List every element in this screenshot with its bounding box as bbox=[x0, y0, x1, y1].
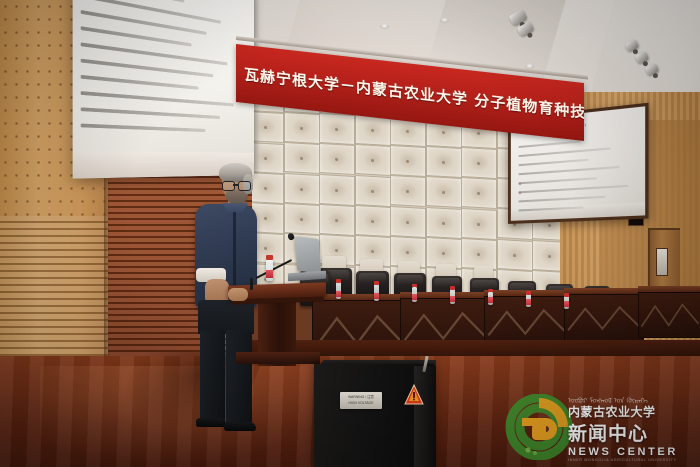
zigzag-decoration-icon bbox=[639, 293, 700, 337]
speaker-hand bbox=[228, 288, 248, 301]
acoustic-pad bbox=[355, 205, 391, 237]
ceiling-downlight bbox=[440, 18, 449, 23]
watermark-university-name: 内蒙古农业大学 bbox=[568, 403, 656, 420]
desk-front-panel bbox=[564, 294, 644, 342]
watermark-news-center-en: NEWS CENTER bbox=[568, 446, 678, 458]
watermark-news-center-cn: 新闻中心 bbox=[568, 419, 648, 446]
slide-text-line bbox=[518, 177, 597, 185]
acoustic-pad bbox=[355, 175, 391, 207]
equipment-case-side bbox=[414, 366, 436, 467]
acoustic-pad bbox=[284, 142, 320, 174]
glasses-icon bbox=[238, 181, 251, 191]
water-bottle bbox=[488, 292, 493, 306]
desk-front-panel bbox=[638, 292, 700, 338]
slide-text-line bbox=[518, 166, 619, 176]
water-bottle bbox=[450, 289, 455, 304]
water-bottle bbox=[412, 287, 417, 302]
slide-text-line bbox=[518, 159, 588, 167]
slide-text-line bbox=[81, 91, 234, 106]
acoustic-pad bbox=[426, 207, 462, 239]
speaker-shirt-placket bbox=[233, 212, 236, 294]
equipment-case-label: WARNING / 注意 HIGH VOLTAGE bbox=[340, 392, 382, 409]
projection-screen-left: References bbox=[73, 0, 254, 179]
water-bottle bbox=[336, 282, 341, 299]
acoustic-pad bbox=[284, 173, 320, 205]
case-label-line2: HIGH VOLTAGE bbox=[349, 401, 374, 406]
water-bottle bbox=[526, 294, 531, 307]
acoustic-pad bbox=[319, 174, 355, 206]
acoustic-pad bbox=[390, 175, 426, 207]
news-center-watermark: ᠦᠪᠦᠷ ᠮᠣᠩᠭᠤᠯ ᠤᠨ ᠬᠥᠳᠡᠭᠡ 内蒙古农业大学 新闻中心 NEWS … bbox=[504, 392, 696, 464]
slide-bullet-icon bbox=[518, 191, 521, 194]
speaker-leg-left bbox=[200, 330, 225, 422]
zigzag-decoration-icon bbox=[565, 295, 643, 341]
acoustic-pad bbox=[284, 203, 320, 235]
speaker-shoe-right bbox=[224, 422, 256, 431]
slide-text-line bbox=[81, 75, 199, 90]
acoustic-pad bbox=[461, 208, 497, 240]
acoustic-pad bbox=[284, 112, 320, 144]
slide-text-line bbox=[81, 59, 213, 78]
acoustic-pad bbox=[319, 143, 355, 175]
acoustic-pad bbox=[319, 113, 355, 145]
slide-text-line bbox=[81, 0, 221, 24]
slide-text-line bbox=[518, 147, 611, 157]
slide-bullet-icon bbox=[518, 182, 521, 185]
ceiling-downlight bbox=[380, 24, 389, 29]
glasses-bridge bbox=[233, 184, 238, 186]
acoustic-pad bbox=[461, 147, 497, 179]
microphone-base bbox=[250, 278, 253, 290]
slide-text-line bbox=[81, 107, 220, 119]
slide-text-line bbox=[81, 124, 206, 133]
water-bottle bbox=[564, 296, 569, 308]
slide-text-line bbox=[518, 196, 605, 203]
podium-water-bottle bbox=[266, 259, 273, 281]
slide-text-line bbox=[518, 141, 580, 149]
news-center-logo-icon bbox=[504, 394, 574, 460]
podium-base bbox=[236, 352, 320, 364]
acoustic-pad bbox=[390, 206, 426, 238]
warning-triangle-icon bbox=[404, 384, 424, 406]
acoustic-pad bbox=[461, 238, 497, 270]
lecture-hall-photo: Marker Assisted Selection References 瓦赫宁… bbox=[0, 0, 700, 467]
acoustic-pad bbox=[390, 145, 426, 177]
watermark-subtitle: INNER MONGOLIA AGRICULTURAL UNIVERSITY bbox=[568, 458, 677, 462]
glasses-icon bbox=[222, 181, 235, 191]
watermark-mongolian-script: ᠦᠪᠦᠷ ᠮᠣᠩᠭᠤᠯ ᠤᠨ ᠬᠥᠳᠡᠭᠡ bbox=[568, 394, 648, 403]
laptop-screen[interactable] bbox=[295, 236, 321, 273]
acoustic-pad bbox=[426, 176, 462, 208]
water-bottle bbox=[374, 284, 379, 300]
acoustic-pad bbox=[248, 172, 284, 204]
acoustic-pad bbox=[355, 114, 391, 146]
acoustic-pad bbox=[355, 144, 391, 176]
acoustic-pad bbox=[426, 146, 462, 178]
door-window bbox=[656, 248, 668, 276]
speaker-shoe-left bbox=[196, 418, 226, 427]
acoustic-pad bbox=[319, 204, 355, 236]
slide-text-line bbox=[518, 185, 628, 194]
acoustic-pad bbox=[461, 177, 497, 209]
acoustic-pad bbox=[497, 239, 533, 271]
